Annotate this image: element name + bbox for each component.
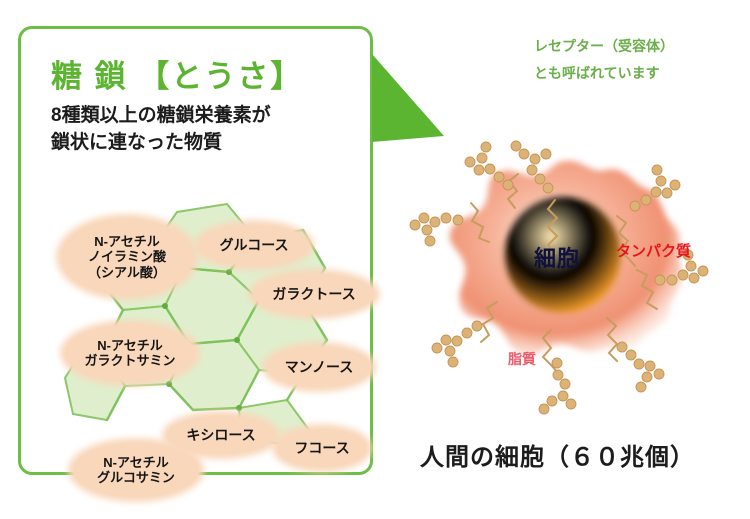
sugar-label: N-アセチルガラクトサミン (84, 338, 175, 369)
lipid-label: 脂質 (508, 349, 536, 369)
cell-nucleus-label: 細胞 (514, 241, 600, 273)
sugar-oval-fucose: フコース (277, 429, 367, 467)
receptor-note: レセプター（受容体）とも呼ばれています (534, 33, 674, 86)
diagram-caption: 人間の細胞（６０兆個） (420, 437, 695, 472)
page-title: 糖 鎖 【とうさ】 (51, 51, 303, 96)
cell-graphic (385, 130, 735, 430)
sugar-oval-sialic: N-アセチルノイラミン酸（シアル酸） (61, 219, 193, 295)
sugar-oval-galactose: ガラクトース (253, 274, 375, 314)
sugar-label: N-アセチルグルコサミン (97, 455, 175, 486)
sugar-label: ガラクトース (272, 286, 355, 303)
sugar-oval-xylose: キシロース (167, 416, 275, 454)
glycan-definition-panel: 糖 鎖 【とうさ】 8種類以上の糖鎖栄養素が鎖状に連なった物質 (18, 26, 373, 475)
sugar-label: N-アセチルノイラミン酸（シアル酸） (88, 234, 166, 280)
sugar-oval-mannose: マンノース (267, 347, 371, 387)
protein-label: タンパク質 (616, 240, 691, 261)
sugar-oval-glcnac: N-アセチルグルコサミン (73, 443, 199, 497)
sugar-label: マンノース (285, 359, 354, 376)
diagram-canvas: 糖 鎖 【とうさ】 8種類以上の糖鎖栄養素が鎖状に連なった物質 (0, 0, 750, 519)
sugar-label: キシロース (186, 427, 255, 444)
sugar-label: フコース (294, 440, 349, 457)
sugar-oval-glucose: グルコース (199, 225, 309, 265)
sugar-label: グルコース (219, 237, 288, 254)
panel-subtitle: 8種類以上の糖鎖栄養素が鎖状に連なった物質 (51, 103, 351, 157)
sugar-oval-galnac: N-アセチルガラクトサミン (65, 325, 195, 381)
